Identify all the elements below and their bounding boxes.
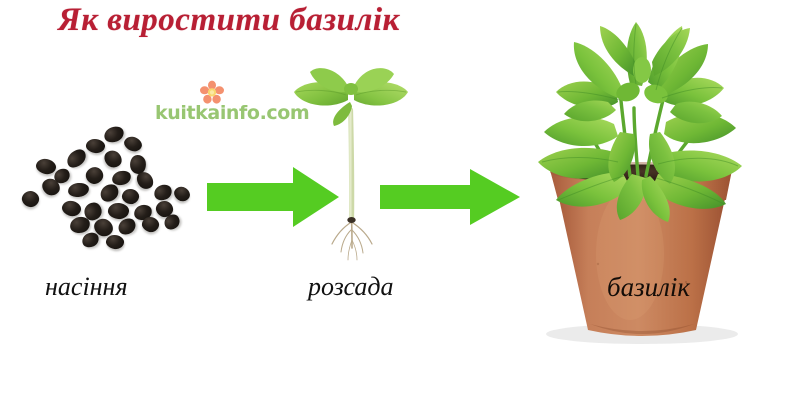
caption-seeds: насіння — [45, 272, 128, 302]
page-title: Як виростити базилік — [58, 2, 438, 39]
caption-seedling: розсада — [308, 272, 393, 302]
basil-seeds-photo — [8, 125, 198, 255]
infographic-canvas: Як виростити базилік kuitkainfo.com — [0, 0, 800, 400]
basil-seedling-photo — [282, 62, 422, 262]
caption-basil: базилік — [607, 272, 690, 303]
